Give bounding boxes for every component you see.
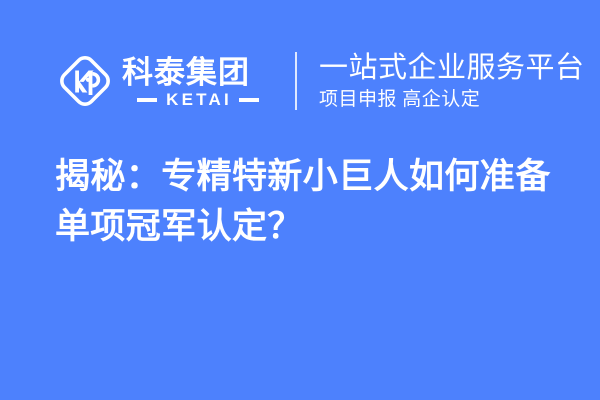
brand-logo[interactable]: 科泰集团 KETAI [57,47,274,115]
promo-banner: 科泰集团 KETAI 一站式企业服务平台 项目申报 高企认定 揭秘：专精特新小巨… [0,0,600,400]
brand-name-latin: KETAI [157,93,239,107]
tagline-block: 一站式企业服务平台 项目申报 高企认定 [319,49,585,113]
brand-name-cn-text: 科泰集团 [122,56,250,90]
brand-bar: 科泰集团 KETAI 一站式企业服务平台 项目申报 高企认定 [57,47,585,115]
ketai-diamond-kp-monogram-icon [57,53,113,109]
tagline-main: 一站式企业服务平台 [319,50,585,86]
brand-latin-row: KETAI [122,93,274,107]
dash-rule-icon [239,98,259,102]
tagline-sub: 项目申报 高企认定 [319,87,585,112]
vertical-divider-icon [295,52,297,110]
brand-wordmark: 科泰集团 KETAI [122,52,274,110]
brand-name-cn: 科泰集团 [122,56,274,90]
page-title: 揭秘：专精特新小巨人如何准备单项冠军认定？ [55,152,565,252]
dash-rule-icon [137,98,157,102]
